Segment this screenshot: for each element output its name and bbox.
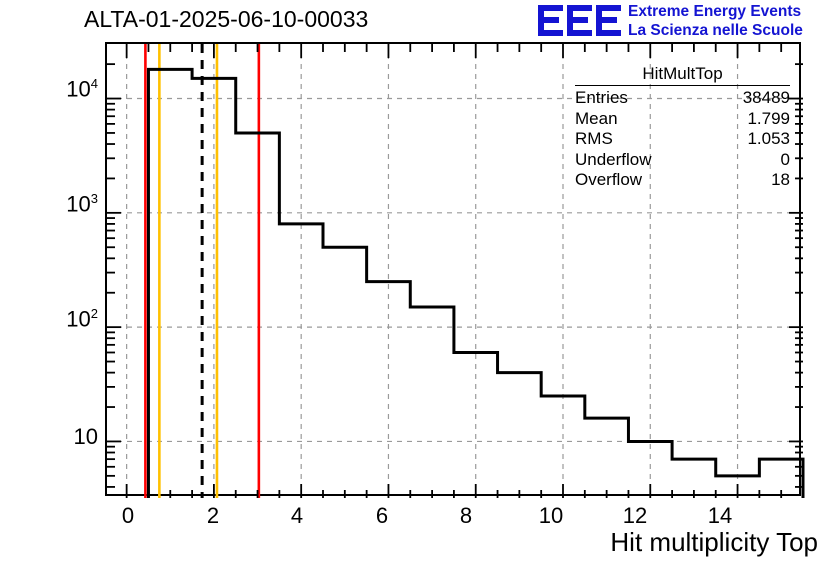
- stats-row: Entries38489: [575, 88, 790, 109]
- stats-value: 1.053: [747, 129, 790, 150]
- stats-value: 0: [781, 150, 790, 171]
- eee-logo-line1: Extreme Energy Events: [628, 3, 803, 22]
- y-tick-label-1e3: 103: [34, 191, 98, 217]
- eee-logo-line2: La Scienza nelle Scuole: [628, 22, 803, 41]
- x-tick-label-6: 6: [362, 503, 402, 529]
- stats-row: Overflow18: [575, 170, 790, 191]
- stats-rows: Entries38489Mean1.799RMS1.053Underflow0O…: [575, 88, 790, 191]
- stats-key: Mean: [575, 109, 618, 130]
- stats-value: 38489: [743, 88, 790, 109]
- y-tick-label-1e2: 102: [34, 306, 98, 332]
- stats-key: Entries: [575, 88, 628, 109]
- stats-row: RMS1.053: [575, 129, 790, 150]
- x-tick-label-8: 8: [446, 503, 486, 529]
- eee-logo: Extreme Energy Events La Scienza nelle S…: [538, 2, 834, 42]
- x-tick-label-4: 4: [277, 503, 317, 529]
- x-tick-label-2: 2: [193, 503, 233, 529]
- x-tick-label-14: 14: [700, 503, 740, 529]
- stats-key: RMS: [575, 129, 613, 150]
- x-axis-title: Hit multiplicity Top: [610, 527, 818, 558]
- page-title: ALTA-01-2025-06-10-00033: [84, 6, 368, 33]
- x-tick-label-12: 12: [615, 503, 655, 529]
- stats-row: Underflow0: [575, 150, 790, 171]
- x-tick-label-10: 10: [531, 503, 571, 529]
- eee-logo-text: Extreme Energy Events La Scienza nelle S…: [628, 3, 803, 40]
- stats-box: HitMultTop Entries38489Mean1.799RMS1.053…: [575, 64, 790, 191]
- stats-value: 18: [771, 170, 790, 191]
- x-tick-label-0: 0: [108, 503, 148, 529]
- stats-key: Overflow: [575, 170, 642, 191]
- stats-divider: [575, 85, 790, 86]
- y-tick-label-1e4: 104: [34, 76, 98, 102]
- stats-value: 1.799: [747, 109, 790, 130]
- stats-title: HitMultTop: [575, 64, 790, 85]
- y-tick-label-1e1: 10: [34, 424, 98, 450]
- stats-row: Mean1.799: [575, 109, 790, 130]
- eee-logo-mark: [538, 4, 622, 38]
- stats-key: Underflow: [575, 150, 652, 171]
